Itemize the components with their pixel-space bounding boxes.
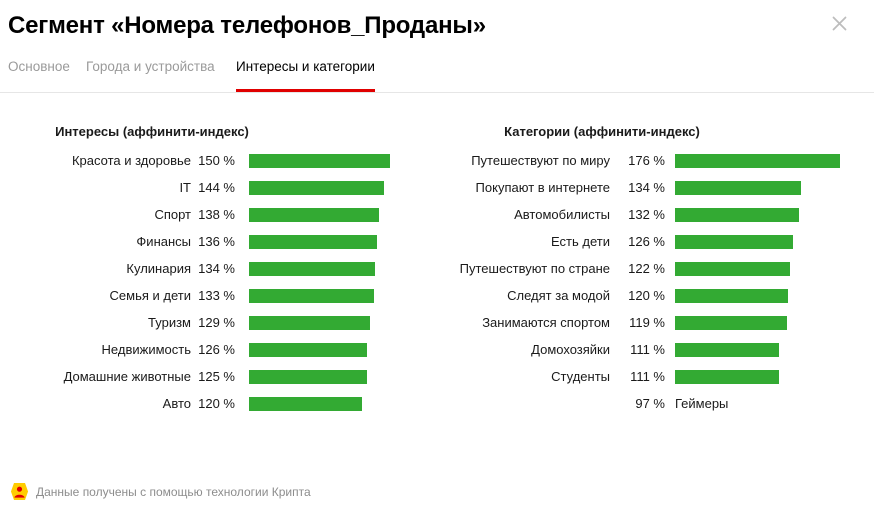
chart-row-value: 125 %	[191, 369, 235, 384]
chart-row: Спорт138 %	[0, 201, 420, 228]
crypta-footer: Данные получены с помощью технологии Кри…	[10, 482, 311, 501]
chart-row-value: 138 %	[191, 207, 235, 222]
chart-row-label: Следят за модой	[430, 288, 610, 303]
bar-positive	[249, 289, 374, 303]
chart-row: Путешествуют по миру176 %	[430, 147, 874, 174]
chart-row: Финансы136 %	[0, 228, 420, 255]
chart-row-track	[675, 336, 874, 363]
chart-row-value: 111 %	[610, 342, 665, 357]
chart-row-value: 119 %	[610, 315, 665, 330]
bar-positive	[675, 289, 788, 303]
chart-row-track	[249, 363, 420, 390]
bar-positive	[675, 316, 787, 330]
chart-interests: Интересы (аффинити-индекс) Красота и здо…	[0, 124, 420, 417]
segment-dialog: Сегмент «Номера телефонов_Проданы» Основ…	[0, 0, 874, 517]
chart-row-track	[249, 255, 420, 282]
chart-row-label: Финансы	[0, 234, 191, 249]
chart-row: Туризм129 %	[0, 309, 420, 336]
chart-row: Занимаются спортом119 %	[430, 309, 874, 336]
chart-row-label: Недвижимость	[0, 342, 191, 357]
chart-row-track	[675, 309, 874, 336]
tab-interesy-i-kategorii[interactable]: Интересы и категории	[236, 58, 375, 92]
crypta-footer-text: Данные получены с помощью технологии Кри…	[36, 485, 311, 499]
chart-row-value: 126 %	[191, 342, 235, 357]
tab-bar-divider	[0, 92, 874, 93]
chart-row-label: Есть дети	[430, 234, 610, 249]
chart-row-label: Семья и дети	[0, 288, 191, 303]
chart-row: Домохозяйки111 %	[430, 336, 874, 363]
chart-row-value: 120 %	[610, 288, 665, 303]
chart-row-label: Домохозяйки	[430, 342, 610, 357]
chart-row-label: IT	[0, 180, 191, 195]
chart-row-track	[249, 228, 420, 255]
chart-row: Недвижимость126 %	[0, 336, 420, 363]
chart-row: Покупают в интернете134 %	[430, 174, 874, 201]
chart-row-track	[675, 201, 874, 228]
chart-row-value: 133 %	[191, 288, 235, 303]
chart-row-label: Авто	[0, 396, 191, 411]
chart-row-value: 134 %	[610, 180, 665, 195]
bar-positive	[675, 370, 779, 384]
chart-title: Интересы (аффинити-индекс)	[0, 124, 420, 139]
chart-row-track	[675, 363, 874, 390]
chart-row-value: 176 %	[610, 153, 665, 168]
chart-row-track	[675, 255, 874, 282]
chart-row: Путешествуют по стране122 %	[430, 255, 874, 282]
bar-positive	[249, 235, 377, 249]
bar-positive	[249, 154, 390, 168]
chart-row: Семья и дети133 %	[0, 282, 420, 309]
chart-row-label: Домашние животные	[0, 369, 191, 384]
chart-title: Категории (аффинити-индекс)	[430, 124, 874, 139]
chart-row-track: Геймеры	[675, 390, 874, 417]
tab-label: Города и устройства	[86, 59, 215, 74]
chart-rows: Путешествуют по миру176 %Покупают в инте…	[430, 147, 874, 417]
chart-row-label: Геймеры	[675, 390, 728, 417]
chart-row-value: 150 %	[191, 153, 235, 168]
close-icon[interactable]	[826, 10, 852, 36]
tab-bar: Основное Города и устройства Интересы и …	[0, 58, 874, 93]
bar-positive	[249, 370, 367, 384]
chart-row: 97 %Геймеры	[430, 390, 874, 417]
chart-row-value: 111 %	[610, 369, 665, 384]
chart-row-label: Путешествуют по миру	[430, 153, 610, 168]
chart-row-value: 144 %	[191, 180, 235, 195]
bar-positive	[675, 262, 790, 276]
bar-positive	[249, 262, 375, 276]
chart-row-value: 136 %	[191, 234, 235, 249]
chart-row-label: Красота и здоровье	[0, 153, 191, 168]
bar-positive	[675, 154, 840, 168]
chart-row-label: Занимаются спортом	[430, 315, 610, 330]
chart-row-track	[249, 201, 420, 228]
chart-row: Автомобилисты132 %	[430, 201, 874, 228]
chart-categories: Категории (аффинити-индекс) Путешествуют…	[430, 124, 874, 417]
chart-row-track	[675, 174, 874, 201]
bar-positive	[675, 181, 801, 195]
chart-row-label: Студенты	[430, 369, 610, 384]
chart-row: Красота и здоровье150 %	[0, 147, 420, 174]
bar-positive	[249, 343, 367, 357]
chart-row-value: 134 %	[191, 261, 235, 276]
chart-row-track	[249, 309, 420, 336]
chart-row: Следят за модой120 %	[430, 282, 874, 309]
chart-rows: Красота и здоровье150 %IT144 %Спорт138 %…	[0, 147, 420, 417]
chart-row-label: Автомобилисты	[430, 207, 610, 222]
chart-row-track	[249, 147, 420, 174]
chart-row: IT144 %	[0, 174, 420, 201]
bar-positive	[249, 397, 362, 411]
chart-row-track	[249, 336, 420, 363]
chart-row-track	[675, 282, 874, 309]
chart-row-track	[249, 390, 420, 417]
tab-label: Основное	[8, 59, 70, 74]
tab-osnovnoe[interactable]: Основное	[8, 58, 70, 92]
chart-row-label: Спорт	[0, 207, 191, 222]
chart-row-track	[675, 228, 874, 255]
bar-positive	[249, 208, 379, 222]
chart-row-label: Покупают в интернете	[430, 180, 610, 195]
chart-row-label: Кулинария	[0, 261, 191, 276]
tab-label: Интересы и категории	[236, 59, 375, 74]
chart-row: Есть дети126 %	[430, 228, 874, 255]
bar-positive	[249, 316, 370, 330]
chart-row-track	[675, 147, 874, 174]
bar-positive	[675, 235, 793, 249]
chart-row-value: 129 %	[191, 315, 235, 330]
chart-row-track	[249, 282, 420, 309]
bar-positive	[675, 343, 779, 357]
tab-goroda-i-ustroystva[interactable]: Города и устройства	[86, 58, 215, 92]
chart-row: Кулинария134 %	[0, 255, 420, 282]
chart-row-value: 97 %	[610, 396, 665, 411]
chart-row: Студенты111 %	[430, 363, 874, 390]
tab-underline	[236, 89, 375, 92]
chart-row: Авто120 %	[0, 390, 420, 417]
chart-row-label: Туризм	[0, 315, 191, 330]
chart-row-value: 132 %	[610, 207, 665, 222]
chart-row-value: 120 %	[191, 396, 235, 411]
crypta-person-icon	[10, 482, 29, 501]
chart-row-label: Путешествуют по стране	[430, 261, 610, 276]
chart-row-track	[249, 174, 420, 201]
chart-row-value: 126 %	[610, 234, 665, 249]
bar-positive	[675, 208, 799, 222]
bar-positive	[249, 181, 384, 195]
chart-row-value: 122 %	[610, 261, 665, 276]
chart-row: Домашние животные125 %	[0, 363, 420, 390]
page-title: Сегмент «Номера телефонов_Проданы»	[8, 12, 486, 40]
